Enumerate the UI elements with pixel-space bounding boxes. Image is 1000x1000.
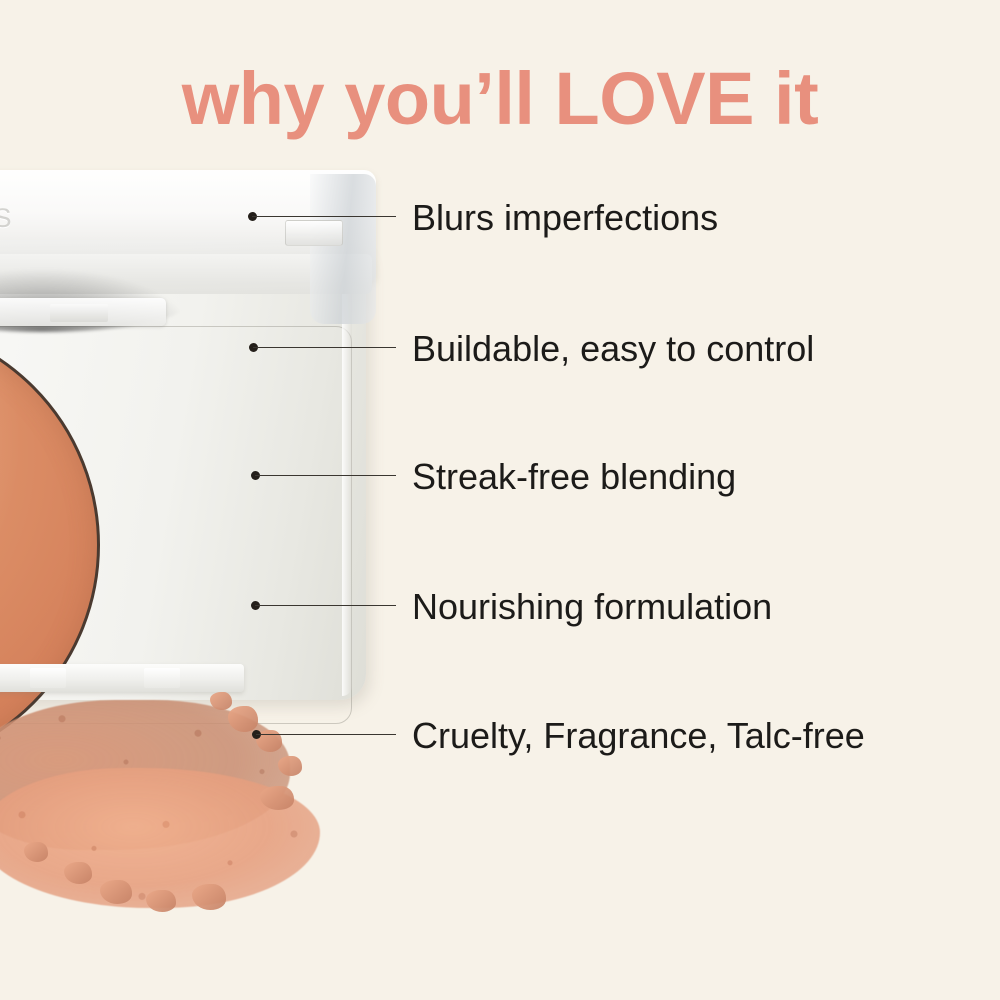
callout-label-buildable: Buildable, easy to control	[412, 331, 814, 367]
callout-leader-line-buildable	[253, 347, 396, 348]
swatch-crumb	[100, 880, 132, 904]
callout-leader-line-blurs-imperfections	[252, 216, 396, 217]
swatch-crumb	[24, 842, 48, 862]
swatch-crumb	[146, 890, 176, 912]
swatch-crumb	[228, 706, 258, 732]
swatch-crumb	[192, 884, 226, 910]
callout-label-nourishing: Nourishing formulation	[412, 589, 772, 625]
swatch-crumb	[278, 756, 302, 776]
infographic-canvas: why you’ll LOVE it HALEYS HALEYS	[0, 0, 1000, 1000]
compact-lip-notch	[144, 668, 180, 688]
brand-emboss-text: HALEYS	[0, 203, 250, 234]
callout-leader-line-streak-free-blending	[255, 475, 396, 476]
callout-label-streak-free-blending: Streak-free blending	[412, 459, 736, 495]
callout-label-blurs-imperfections: Blurs imperfections	[412, 200, 718, 236]
compact-lid-clip	[285, 220, 343, 246]
swatch-crumb	[64, 862, 92, 884]
compact-lid-right-edge	[310, 174, 376, 324]
swatch-crumb	[210, 692, 232, 710]
swatch-texture-overlay	[0, 690, 350, 930]
page-title: why you’ll LOVE it	[0, 62, 1000, 136]
swatch-crumb	[260, 786, 294, 810]
callout-label-cruelty-free: Cruelty, Fragrance, Talc-free	[412, 718, 865, 754]
callout-leader-line-cruelty-free	[256, 734, 396, 735]
product-compact-image: HALEYS HALEYS	[0, 170, 380, 710]
powder-swatch-image	[0, 690, 360, 950]
compact-hinge-tab	[50, 304, 108, 322]
compact-lip-notch	[30, 668, 66, 688]
callout-leader-line-nourishing	[255, 605, 396, 606]
